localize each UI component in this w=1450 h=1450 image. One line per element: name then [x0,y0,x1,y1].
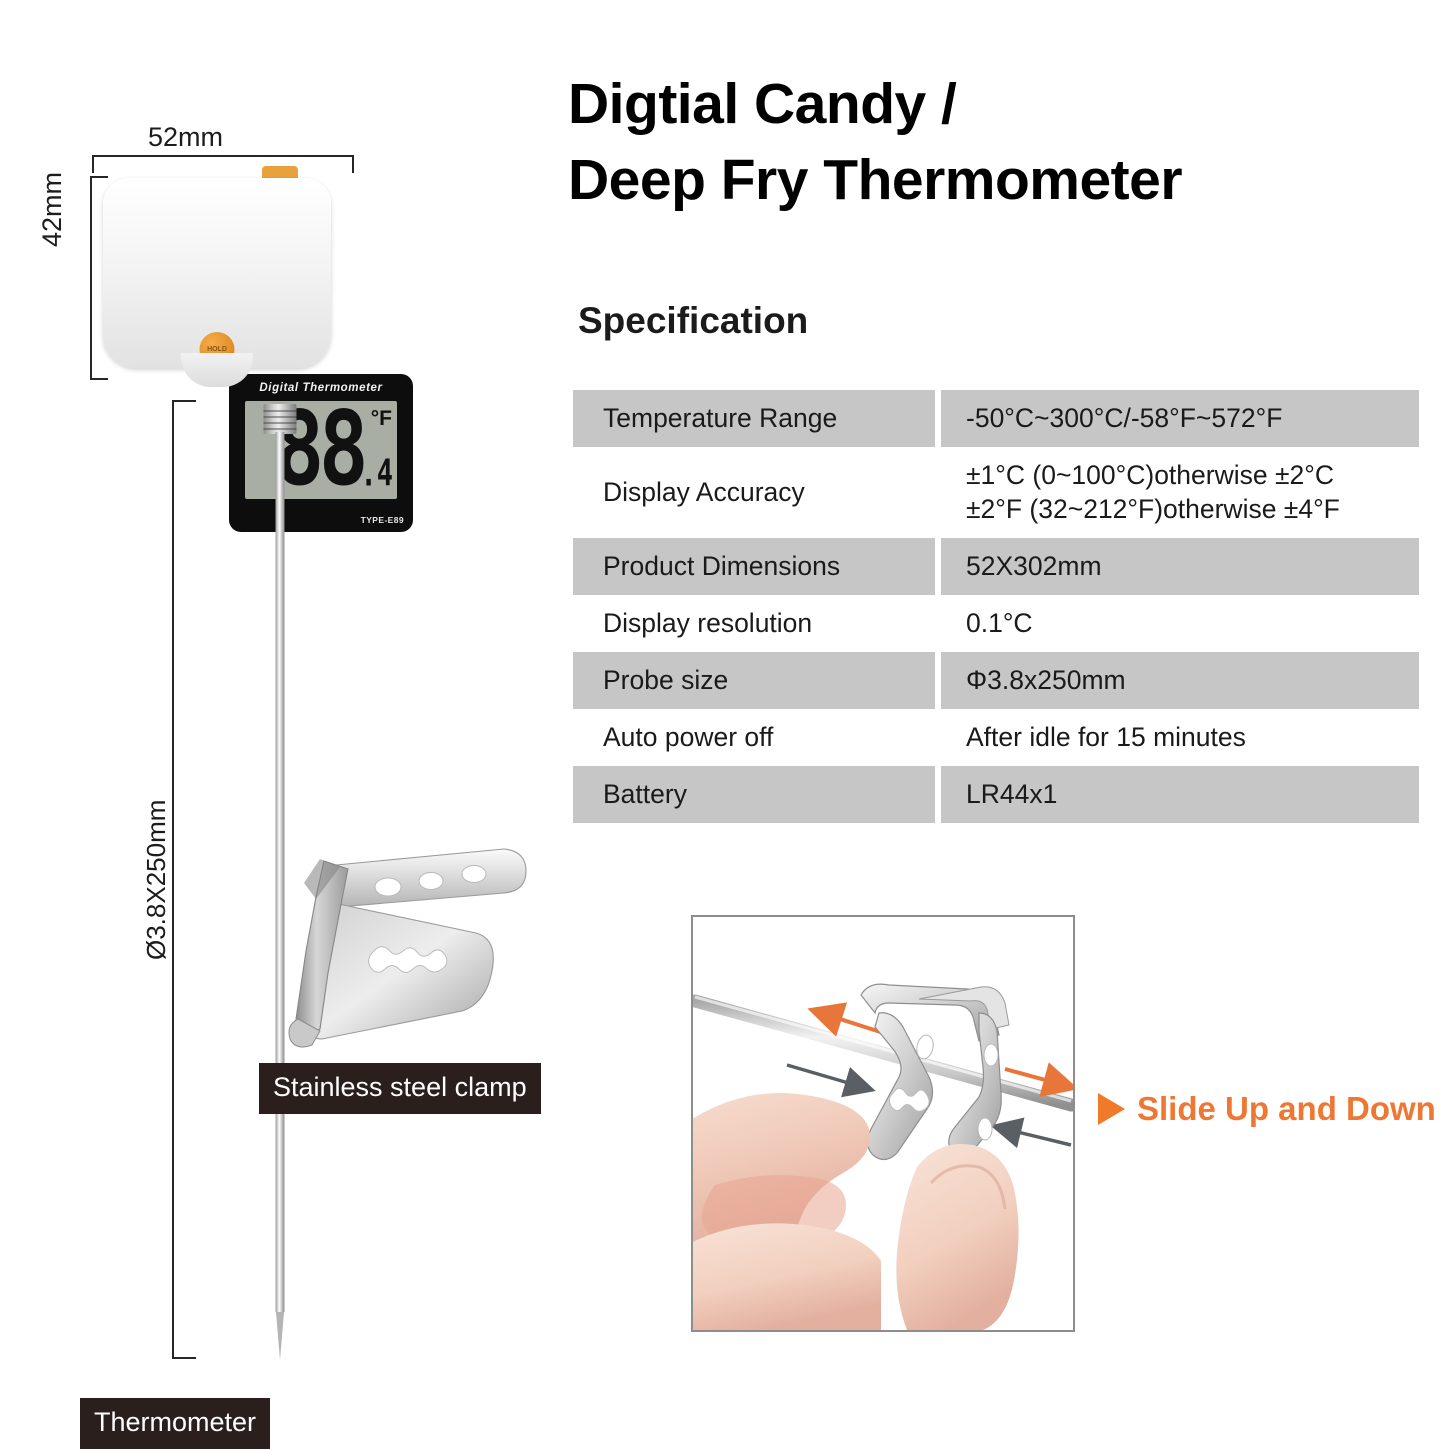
probe-dimension-label: Ø3.8X250mm [141,800,172,960]
spec-value: 0.1°C [941,595,1419,652]
thermometer-caption: Thermometer [80,1398,270,1449]
probe-collar [264,404,297,434]
usage-photo [693,917,1073,1330]
height-dimension-label: 42mm [37,172,68,247]
table-row: Auto power off After idle for 15 minutes [573,709,1419,766]
spec-key: Probe size [573,652,935,709]
display-bezel: Digital Thermometer 88 °F .4 TYPE-E89 [229,374,413,532]
spec-value-line-1: 0.1°C [966,608,1419,639]
lcd-unit-label: °F [371,407,392,431]
spec-value-line-1: ±1°C (0~100°C)otherwise ±2°C [966,460,1419,491]
spec-value-line-1: 52X302mm [966,551,1419,582]
spec-value: -50°C~300°C/-58°F~572°F [941,390,1419,447]
table-row: Probe size Φ3.8x250mm [573,652,1419,709]
page-title: Digtial Candy / Deep Fry Thermometer [568,66,1428,219]
product-infographic: Digtial Candy / Deep Fry Thermometer Spe… [0,0,1450,1450]
thermometer-body: Digital Thermometer 88 °F .4 TYPE-E89 HO… [103,178,331,368]
spec-value: Φ3.8x250mm [941,652,1419,709]
usage-photo-panel [691,915,1075,1332]
spec-value-line-1: -50°C~300°C/-58°F~572°F [966,403,1419,434]
spec-key: Display resolution [573,595,935,652]
spec-value-line-2: ±2°F (32~212°F)otherwise ±4°F [966,494,1419,525]
table-row: Temperature Range -50°C~300°C/-58°F~572°… [573,390,1419,447]
spec-key: Battery [573,766,935,823]
spec-value: 52X302mm [941,538,1419,595]
hold-button[interactable]: HOLD [200,332,235,367]
lcd-decimal: .4 [360,453,393,495]
probe-dimension-bracket [172,400,196,1359]
triangle-right-icon [1098,1093,1125,1125]
slide-note: Slide Up and Down [1098,1090,1436,1128]
thermometer-diagram: 52mm 42mm Ø3.8X250mm Digital Thermometer… [0,0,560,1450]
specification-heading: Specification [578,300,808,342]
table-row: Battery LR44x1 [573,766,1419,823]
table-row: Product Dimensions 52X302mm [573,538,1419,595]
specification-table: Temperature Range -50°C~300°C/-58°F~572°… [573,390,1419,823]
table-row: Display Accuracy ±1°C (0~100°C)otherwise… [573,447,1419,538]
probe-tip [276,1312,284,1360]
slide-note-text: Slide Up and Down [1137,1090,1436,1128]
spec-value-line-1: After idle for 15 minutes [966,722,1419,753]
spec-key: Display Accuracy [573,447,935,538]
spec-key: Temperature Range [573,390,935,447]
page-title-line-2: Deep Fry Thermometer [568,142,1428,218]
spec-value-line-1: Φ3.8x250mm [966,665,1419,696]
spec-key: Product Dimensions [573,538,935,595]
spec-value: ±1°C (0~100°C)otherwise ±2°C ±2°F (32~21… [941,447,1419,538]
page-title-line-1: Digtial Candy / [568,66,1428,142]
width-dimension-bracket [92,155,354,173]
spec-value: LR44x1 [941,766,1419,823]
clamp-caption: Stainless steel clamp [259,1063,541,1114]
model-type-label: TYPE-E89 [361,515,404,525]
stainless-steel-clamp-illustration [276,843,538,1058]
width-dimension-label: 52mm [148,122,223,153]
clamp-arm-upper [336,849,526,907]
brand-label: Digital Thermometer [229,382,413,394]
table-row: Display resolution 0.1°C [573,595,1419,652]
spec-value-line-1: LR44x1 [966,779,1419,810]
hold-button-label: HOLD [207,346,227,353]
spec-value: After idle for 15 minutes [941,709,1419,766]
spec-key: Auto power off [573,709,935,766]
